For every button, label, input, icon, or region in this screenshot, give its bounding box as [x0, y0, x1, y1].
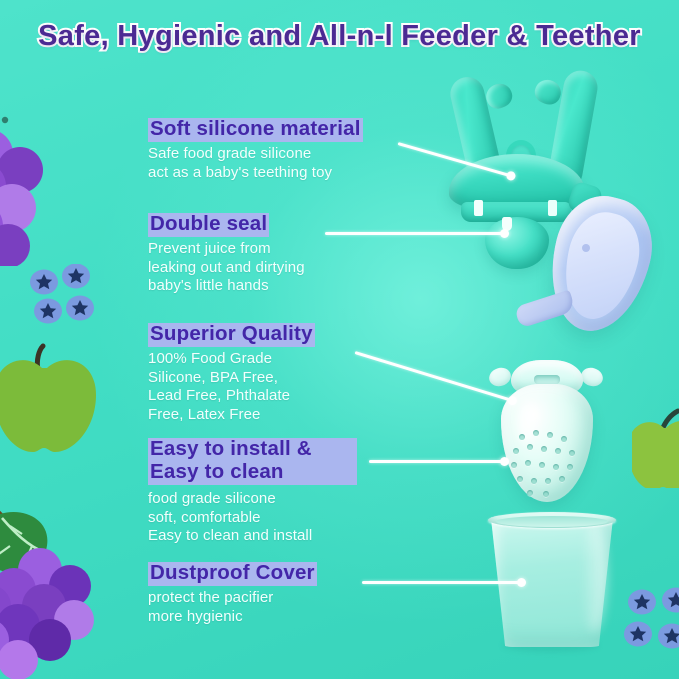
product-dustproof-cover-cup	[487, 512, 617, 647]
feature-body-line: Silicone, BPA Free,	[148, 369, 315, 388]
feeder-hole	[555, 448, 561, 454]
feeder-hole	[519, 434, 525, 440]
feeder-hole	[547, 432, 553, 438]
feeder-hole	[513, 448, 519, 454]
leader-line-dustproof-cover	[362, 581, 522, 584]
grape-cluster-top-left-icon	[0, 126, 64, 266]
feeder-hole	[527, 490, 533, 496]
feature-body-line: Lead Free, Phthalate	[148, 387, 315, 406]
feeder-hole	[541, 446, 547, 452]
blueberry-group-left-icon	[26, 264, 96, 326]
feature-body-line: Free, Latex Free	[148, 406, 315, 425]
dust-cup-rim-inner	[496, 516, 608, 527]
green-apple-left-icon	[0, 340, 102, 460]
teether-collar-highlight-left	[474, 200, 483, 216]
feature-body-dustproof-cover: protect the pacifier more hygienic	[148, 589, 317, 626]
feature-body-line: baby's little hands	[148, 277, 305, 296]
teether-collar-highlight-right	[548, 200, 557, 216]
teether-pacifier-bulb	[485, 217, 549, 269]
feature-block-double-seal: Double seal Prevent juice from leaking o…	[148, 213, 305, 296]
feature-body-superior-quality: 100% Food Grade Silicone, BPA Free, Lead…	[148, 350, 315, 424]
product-feeder-nipple	[487, 360, 607, 510]
feeder-flange-left	[487, 365, 513, 389]
feature-heading-easy-to-install-clean: Easy to install & Easy to clean	[148, 438, 357, 485]
feeder-hole	[525, 460, 531, 466]
feature-block-superior-quality: Superior Quality 100% Food Grade Silicon…	[148, 323, 315, 424]
teether-cover-strap-tail	[514, 290, 576, 329]
feature-body-line: more hygienic	[148, 608, 317, 627]
feature-heading-double-seal: Double seal	[148, 213, 269, 237]
feature-body-line: leaking out and dirtying	[148, 259, 305, 278]
feature-block-soft-silicone-material: Soft silicone material Safe food grade s…	[148, 118, 363, 182]
grape-stem-dot-icon	[0, 112, 16, 128]
feature-heading-superior-quality: Superior Quality	[148, 323, 315, 347]
feeder-hole	[561, 436, 567, 442]
feature-body-line: food grade silicone	[148, 490, 357, 509]
feeder-hole	[543, 491, 549, 497]
feature-body-line: Easy to clean and install	[148, 527, 357, 546]
leader-line-double-seal	[325, 232, 505, 235]
feeder-hole	[559, 476, 565, 482]
leader-line-easy-install-clean	[369, 460, 505, 463]
leader-dot-easy-install-clean	[500, 457, 509, 466]
feature-body-line: protect the pacifier	[148, 589, 317, 608]
feature-body-soft-silicone-material: Safe food grade silicone act as a baby's…	[148, 145, 363, 182]
feeder-hole	[511, 462, 517, 468]
feeder-hole	[567, 464, 573, 470]
product-teether-with-cover	[430, 62, 660, 342]
feature-heading-dustproof-cover: Dustproof Cover	[148, 562, 317, 586]
feature-block-dustproof-cover: Dustproof Cover protect the pacifier mor…	[148, 562, 317, 626]
feeder-hole	[517, 476, 523, 482]
feeder-hole	[533, 430, 539, 436]
teether-cover-vent-hole	[582, 244, 590, 252]
feature-body-line: act as a baby's teething toy	[148, 164, 363, 183]
feeder-hole	[553, 464, 559, 470]
dust-cup-specular-highlight	[581, 522, 607, 632]
feature-body-line: Prevent juice from	[148, 240, 305, 259]
feature-body-line: soft, comfortable	[148, 509, 357, 528]
leader-dot-dustproof-cover	[517, 578, 526, 587]
grape-cluster-bottom-left-icon	[0, 498, 130, 679]
blueberry-group-bottom-right-icon	[624, 584, 679, 658]
feeder-opening-slot	[534, 375, 560, 384]
green-apple-right-icon	[632, 408, 679, 488]
feeder-hole	[545, 478, 551, 484]
feature-heading-soft-silicone-material: Soft silicone material	[148, 118, 363, 142]
feature-body-easy-to-install-clean: food grade silicone soft, comfortable Ea…	[148, 490, 357, 546]
feature-body-double-seal: Prevent juice from leaking out and dirty…	[148, 240, 305, 296]
feeder-hole	[527, 444, 533, 450]
feature-body-line: Safe food grade silicone	[148, 145, 363, 164]
infographic-canvas: Safe, Hygienic and All-n-l Feeder & Teet…	[0, 0, 679, 679]
leader-dot-double-seal	[500, 229, 509, 238]
page-title: Safe, Hygienic and All-n-l Feeder & Teet…	[0, 20, 679, 53]
feature-body-line: 100% Food Grade	[148, 350, 315, 369]
feature-block-easy-to-install-clean: Easy to install & Easy to clean food gra…	[148, 438, 357, 546]
feeder-hole	[531, 478, 537, 484]
feeder-hole	[569, 450, 575, 456]
feeder-hole	[539, 462, 545, 468]
